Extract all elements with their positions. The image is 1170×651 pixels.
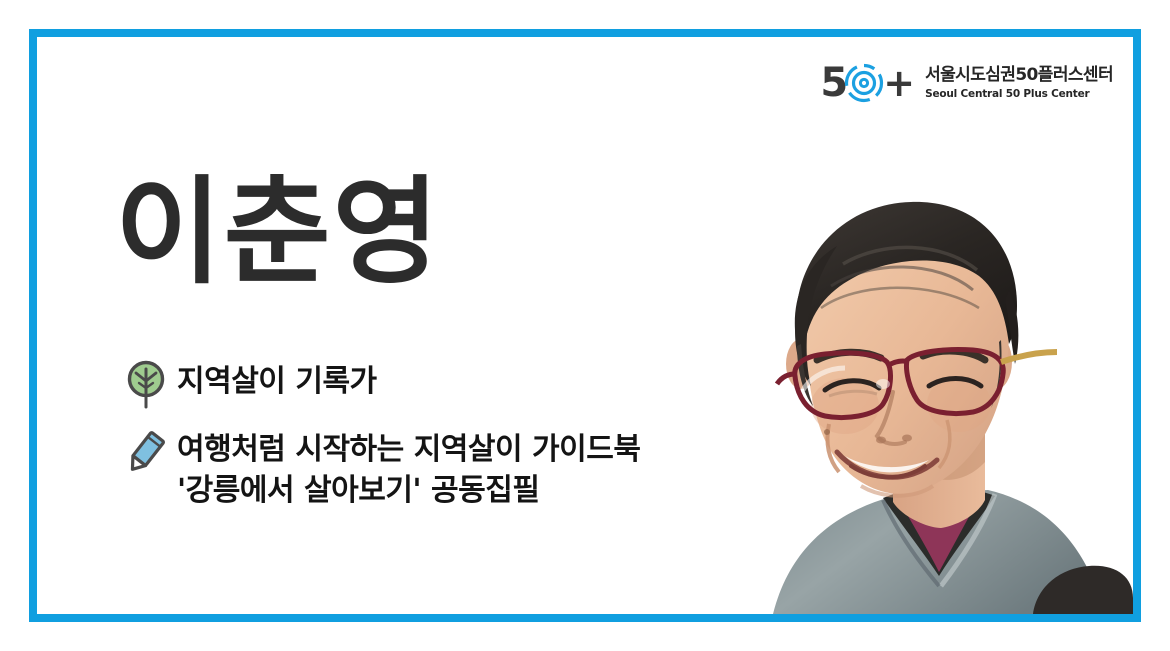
logo-name-korean: 서울시도심권50플러스센터 bbox=[925, 66, 1113, 86]
slide-root: 5 + 서울시도심권50플러스센터 Seoul Central 50 Plus … bbox=[0, 0, 1170, 651]
concentric-circle-target-icon bbox=[844, 63, 884, 103]
organization-logo: 5 + 서울시도심권50플러스센터 Seoul Central 50 Plus … bbox=[820, 61, 1113, 105]
credentials-list: 지역살이 기록가 여행처럼 시작하는 지역살이 가이드북 '강릉에서 살아보기'… bbox=[115, 357, 795, 522]
tree-icon bbox=[115, 357, 177, 415]
list-item: 여행처럼 시작하는 지역살이 가이드북 '강릉에서 살아보기' 공동집필 bbox=[115, 425, 795, 512]
logo-digit-five: 5 bbox=[820, 63, 847, 103]
logo-plus-sign: + bbox=[883, 64, 915, 102]
frame-content-area: 5 + 서울시도심권50플러스센터 Seoul Central 50 Plus … bbox=[37, 37, 1133, 614]
list-item-label: 지역살이 기록가 bbox=[177, 357, 377, 402]
logo-wordmark: 서울시도심권50플러스센터 Seoul Central 50 Plus Cent… bbox=[925, 66, 1113, 100]
portrait-photo bbox=[733, 194, 1133, 614]
logo-mark: 5 + bbox=[820, 61, 915, 105]
list-item-label: 여행처럼 시작하는 지역살이 가이드북 '강릉에서 살아보기' 공동집필 bbox=[177, 425, 640, 512]
person-name-title: 이춘영 bbox=[115, 169, 441, 297]
list-item: 지역살이 기록가 bbox=[115, 357, 795, 415]
logo-name-english: Seoul Central 50 Plus Center bbox=[925, 88, 1113, 100]
blue-frame-border: 5 + 서울시도심권50플러스센터 Seoul Central 50 Plus … bbox=[29, 29, 1141, 622]
pencil-icon bbox=[115, 425, 177, 483]
